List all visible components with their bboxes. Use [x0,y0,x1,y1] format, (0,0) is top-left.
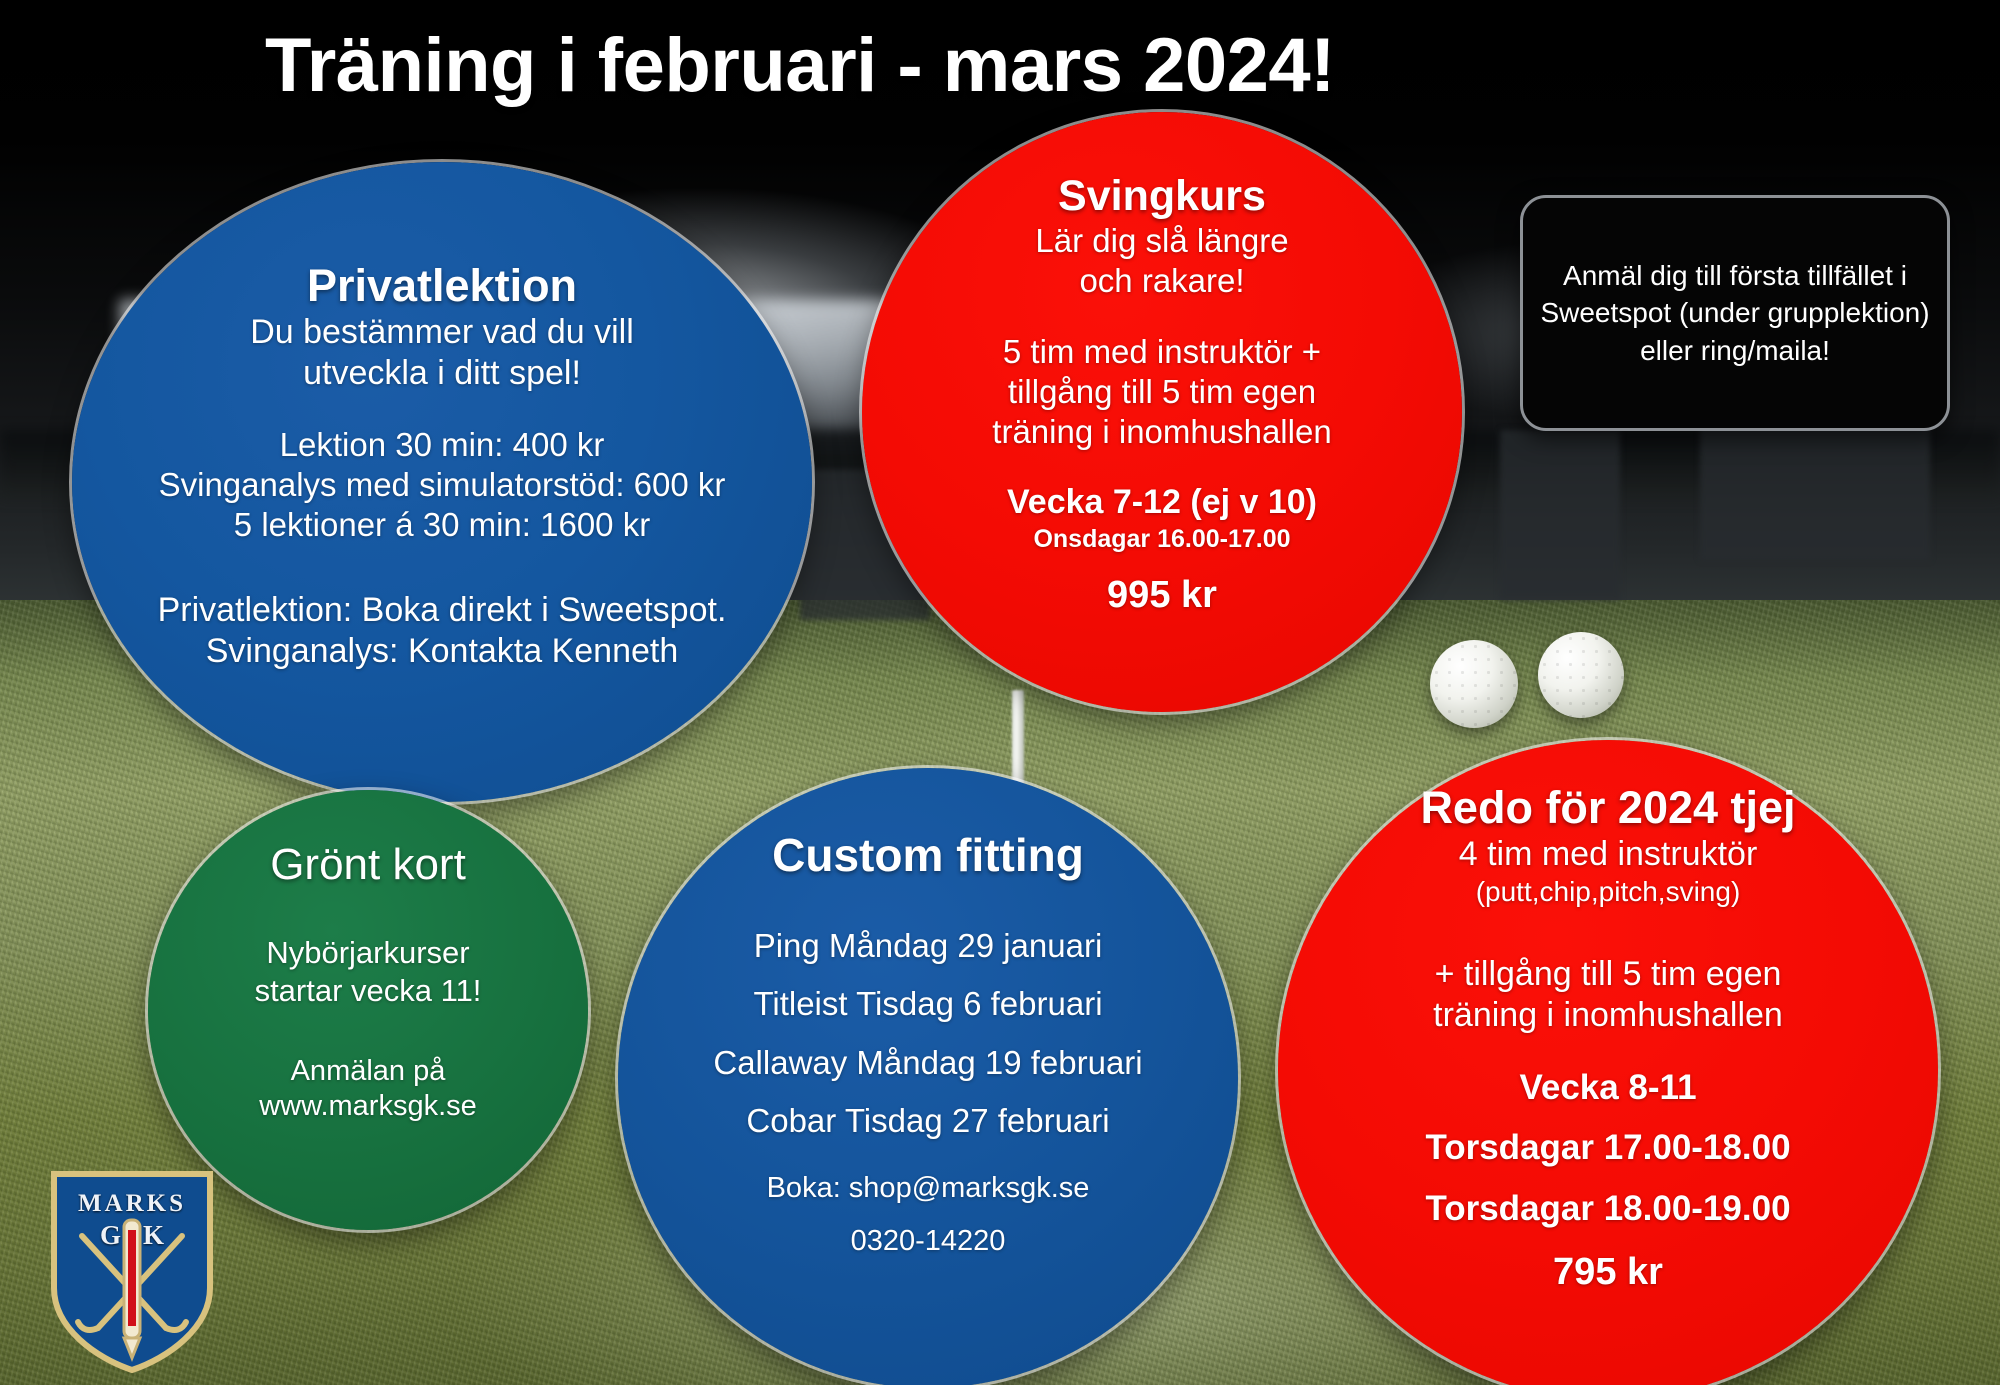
redo-time-1: Torsdagar 17.00-18.00 [1425,1127,1790,1170]
marks-gk-logo: MARKS GK [48,1168,216,1376]
privatlektion-price-1: Lektion 30 min: 400 kr [159,425,726,465]
svingkurs-content: 5 tim med instruktör + tillgång till 5 t… [992,332,1331,453]
redo-line-3: + tillgång till 5 tim egen [1435,954,1782,995]
gront-kort-line-2: startar vecka 11! [255,973,482,1008]
gront-kort-heading: Grönt kort [270,840,466,890]
custom-fitting-email: Boka: shop@marksgk.se [767,1171,1090,1206]
custom-fitting-phone: 0320-14220 [851,1224,1006,1259]
svingkurs-content-line-2: tillgång till 5 tim egen [1008,373,1316,410]
privatlektion-price-3: 5 lektioner á 30 min: 1600 kr [159,505,726,545]
redo-line-4: träning i inomhushallen [1433,995,1783,1036]
background-equipment-mid [1500,430,1620,600]
svingkurs-heading: Svingkurs [1058,172,1266,221]
privatlektion-intro-line-2: utveckla i ditt spel! [303,354,581,392]
crest-line-2: GK [48,1220,216,1251]
bubble-custom-fitting: Custom fitting Ping Måndag 29 januari Ti… [618,768,1238,1385]
privatlektion-heading: Privatlektion [307,260,577,312]
svingkurs-time: Onsdagar 16.00-17.00 [1033,524,1290,555]
signup-note-box: Anmäl dig till första tillfället i Sweet… [1520,195,1950,431]
gront-kort-signup-line-1: Anmälan på [291,1055,446,1087]
gront-kort-website: www.marksgk.se [259,1090,477,1122]
crest-line-1: MARKS [48,1190,216,1218]
custom-fitting-session-3: Callaway Måndag 19 februari [713,1043,1142,1083]
redo-time-2: Torsdagar 18.00-19.00 [1425,1188,1790,1231]
custom-fitting-heading: Custom fitting [772,828,1084,882]
privatlektion-intro: Du bestämmer vad du vill utveckla i ditt… [250,312,634,395]
background-equipment-right [1700,420,1930,560]
poster-title: Träning i februari - mars 2024! [0,22,1600,109]
poster-canvas: Träning i februari - mars 2024! Anmäl di… [0,0,2000,1385]
privatlektion-price-2: Svinganalys med simulatorstöd: 600 kr [159,465,726,505]
svingkurs-content-line-3: träning i inomhushallen [992,413,1331,450]
golf-ball-right [1538,632,1624,718]
redo-line-2: (putt,chip,pitch,sving) [1476,875,1741,909]
gront-kort-line-1: Nybörjarkurser [266,935,469,970]
privatlektion-booking-line-2: Svinganalys: Kontakta Kenneth [206,631,679,672]
redo-week: Vecka 8-11 [1519,1067,1696,1110]
bubble-privatlektion: Privatlektion Du bestämmer vad du vill u… [72,162,812,802]
gront-kort-body: Nybörjarkurser startar vecka 11! [255,934,482,1010]
bubble-redo-for-2024-tjej: Redo för 2024 tjej 4 tim med instruktör … [1278,740,1938,1385]
svingkurs-price: 995 kr [1107,572,1217,618]
bubble-gront-kort: Grönt kort Nybörjarkurser startar vecka … [148,790,588,1230]
custom-fitting-session-2: Titleist Tisdag 6 februari [753,984,1102,1024]
privatlektion-intro-line-1: Du bestämmer vad du vill [250,313,634,351]
gront-kort-signup: Anmälan på www.marksgk.se [259,1054,477,1125]
redo-price: 795 kr [1553,1249,1663,1295]
bubble-svingkurs: Svingkurs Lär dig slå längre och rakare!… [862,112,1462,712]
redo-line-1: 4 tim med instruktör [1459,834,1758,875]
redo-heading: Redo för 2024 tjej [1420,782,1795,834]
svingkurs-tagline-line-2: och rakare! [1079,262,1244,299]
privatlektion-price-list: Lektion 30 min: 400 kr Svinganalys med s… [159,425,726,546]
signup-note-line-3: eller ring/maila! [1640,335,1830,366]
svingkurs-tagline: Lär dig slå längre och rakare! [1035,221,1288,302]
svingkurs-content-line-1: 5 tim med instruktör + [1003,333,1321,370]
signup-note-line-2: Sweetspot (under grupplektion) [1540,297,1929,328]
svingkurs-tagline-line-1: Lär dig slå längre [1035,222,1288,259]
signup-note-line-1: Anmäl dig till första tillfället i [1563,260,1907,291]
golf-ball-left [1430,640,1518,728]
privatlektion-booking-line-1: Privatlektion: Boka direkt i Sweetspot. [158,590,727,631]
signup-note-text: Anmäl dig till första tillfället i Sweet… [1540,257,1929,369]
custom-fitting-session-1: Ping Måndag 29 januari [754,926,1103,966]
custom-fitting-session-4: Cobar Tisdag 27 februari [746,1101,1109,1141]
svingkurs-week: Vecka 7-12 (ej v 10) [1007,482,1317,523]
